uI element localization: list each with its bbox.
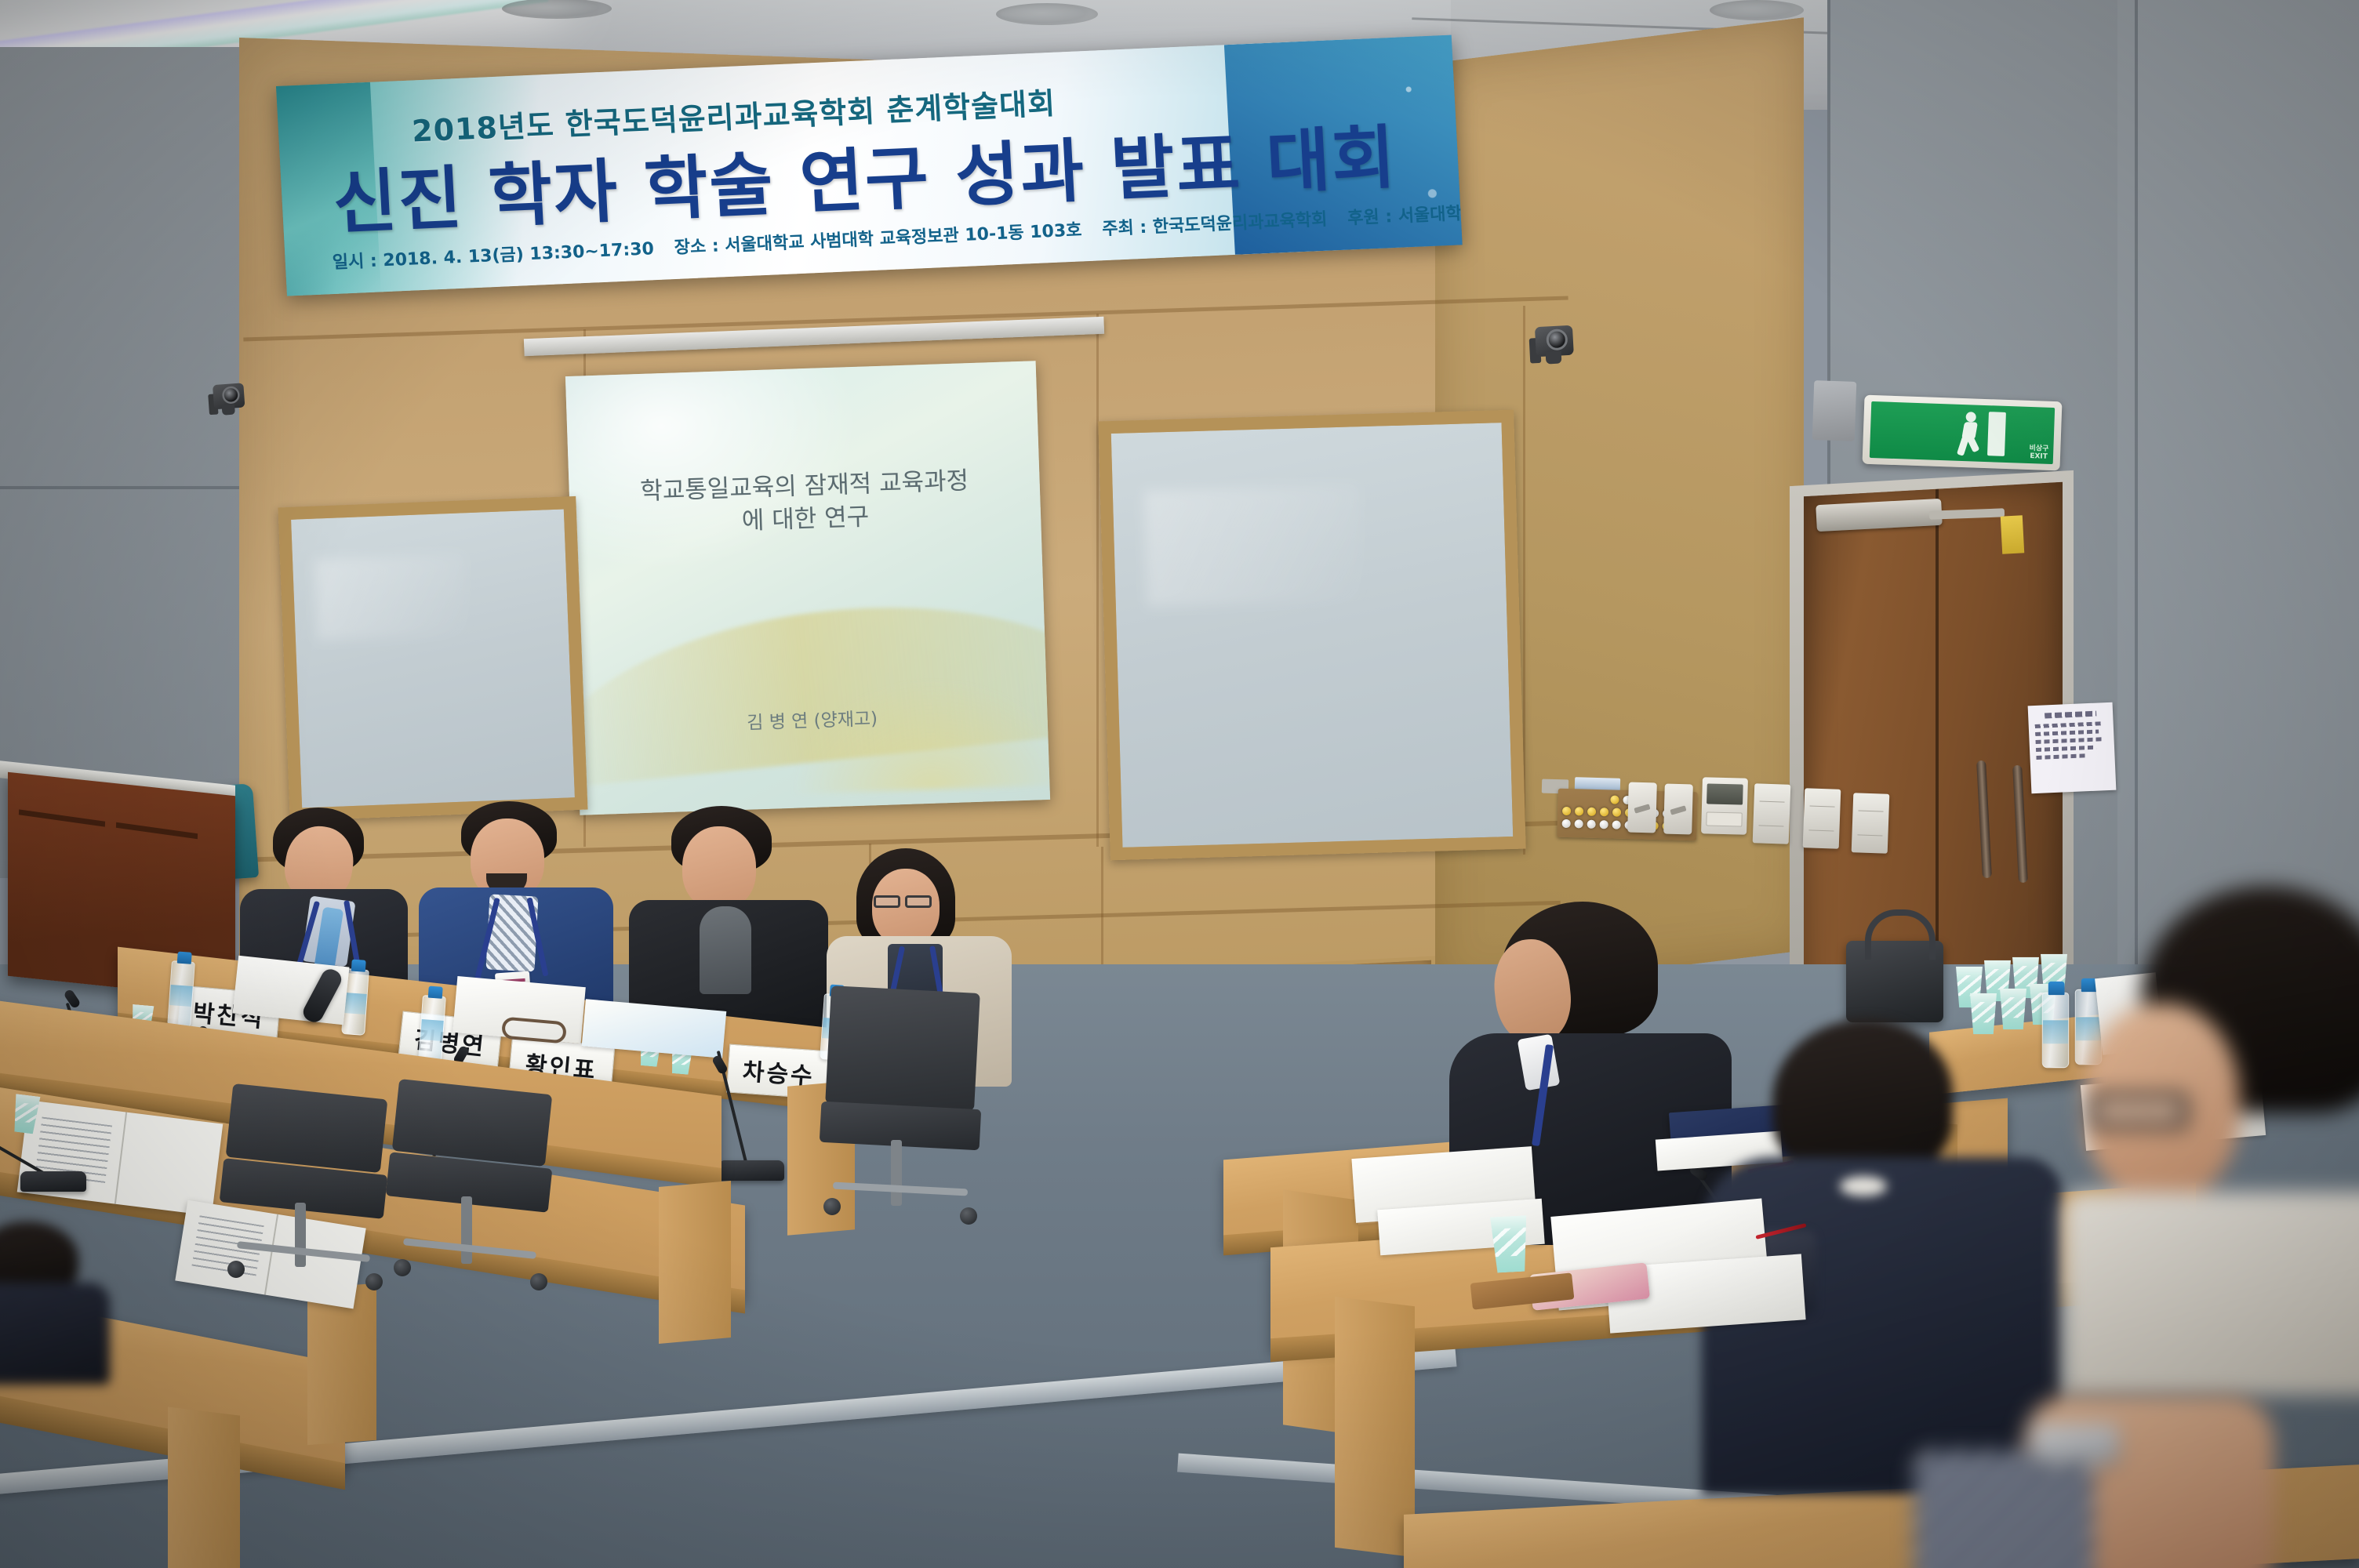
gooseneck-microphone[interactable] xyxy=(20,1074,86,1192)
wood-wall-seam xyxy=(1096,314,1099,847)
recessed-downlight xyxy=(1710,0,1804,20)
exit-door-icon xyxy=(1987,412,2006,456)
projector-glow xyxy=(565,361,863,575)
running-man-icon xyxy=(1957,412,1983,456)
thermostat-display xyxy=(1707,783,1743,804)
chair[interactable] xyxy=(216,1091,397,1319)
light-switch[interactable] xyxy=(1663,784,1693,835)
thermostat-button[interactable] xyxy=(1706,811,1742,826)
table-leg-panel xyxy=(659,1181,731,1344)
projection-screen: 학교통일교육의 잠재적 교육과정 에 대한 연구 김 병 연 (양재고) xyxy=(565,361,1050,815)
wall-switch[interactable] xyxy=(1753,783,1791,844)
emergency-light-plate xyxy=(1812,380,1857,441)
seminar-room-photo: 2018년도 한국도덕윤리과교육학회 춘계학술대회 신진 학자 학술 연구 성과… xyxy=(0,0,2359,1568)
chair[interactable] xyxy=(384,1087,562,1322)
wall-switch[interactable] xyxy=(1852,793,1890,854)
door-warning-tag xyxy=(2001,515,2024,554)
eyeglasses xyxy=(874,895,900,908)
water-bottle[interactable] xyxy=(167,960,195,1028)
exit-label-en: EXIT xyxy=(2029,453,2048,461)
water-bottle[interactable] xyxy=(2042,993,2070,1069)
eyeglasses xyxy=(905,895,932,908)
table-leg-panel xyxy=(168,1406,240,1568)
whiteboard-glare xyxy=(314,554,467,640)
wristwatch xyxy=(2031,1424,2119,1465)
handbag[interactable] xyxy=(1846,941,1943,1022)
table-leg-panel xyxy=(1335,1297,1415,1558)
whiteboard-left xyxy=(278,496,587,821)
audience-3 xyxy=(2110,886,2359,1325)
light-switch[interactable] xyxy=(1627,782,1657,833)
audience-left-partial xyxy=(0,1221,102,1363)
wall-camera-icon xyxy=(205,377,250,417)
wall-camera-icon xyxy=(1527,318,1581,366)
exit-sign: 비상구 EXIT xyxy=(1863,395,2063,471)
chair[interactable] xyxy=(816,989,988,1225)
door-notice xyxy=(2028,702,2117,794)
wood-wall-seam xyxy=(1101,847,1103,980)
whiteboard-right xyxy=(1098,410,1525,861)
slide-decoration xyxy=(787,675,1050,794)
exit-sign-text: 비상구 EXIT xyxy=(2029,445,2048,461)
whiteboard-glare xyxy=(1144,485,1362,606)
recessed-downlight xyxy=(996,3,1098,25)
audience-3-arm xyxy=(1929,1333,2359,1568)
thermostat[interactable] xyxy=(1701,777,1748,834)
wall-switch[interactable] xyxy=(1803,788,1841,849)
gooseneck-microphone[interactable] xyxy=(718,1055,784,1181)
